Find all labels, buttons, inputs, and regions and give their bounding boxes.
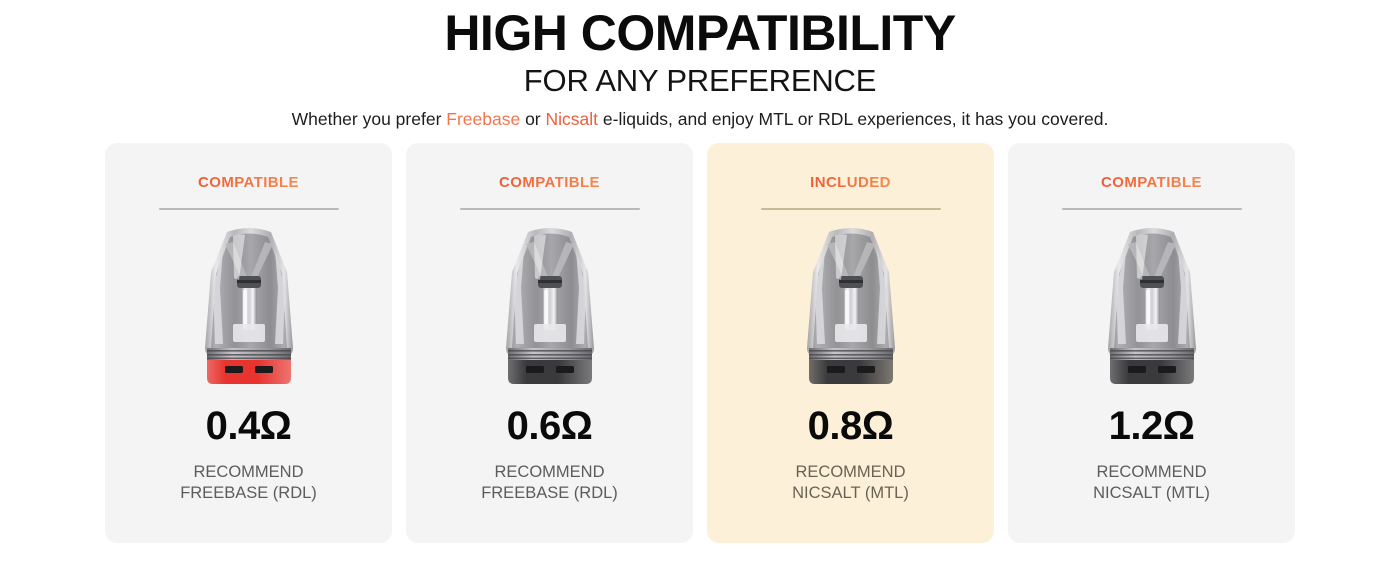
resistance-value: 0.6Ω [507,404,593,449]
pod-image [1096,222,1208,392]
card-divider [460,208,640,210]
pod-card-0.8ohm[interactable]: INCLUDED [707,143,994,543]
pod-card-1.2ohm[interactable]: COMPATIBLE [1008,143,1295,543]
recommendation-line1: RECOMMEND [481,462,618,483]
recommendation-line2: NICSALT (MTL) [792,483,909,504]
pod-illustration [1096,224,1208,390]
recommendation-line2: NICSALT (MTL) [1093,483,1210,504]
card-divider [1062,208,1242,210]
pod-image [494,222,606,392]
pod-illustration [795,224,907,390]
pod-card-0.6ohm[interactable]: COMPATIBLE [406,143,693,543]
recommendation-line1: RECOMMEND [1093,462,1210,483]
pod-image [193,222,305,392]
compatibility-section: HIGH COMPATIBILITY FOR ANY PREFERENCE Wh… [0,0,1400,563]
recommendation-line2: FREEBASE (RDL) [481,483,618,504]
recommendation: RECOMMENDFREEBASE (RDL) [180,462,317,505]
resistance-value: 0.8Ω [808,404,894,449]
recommendation: RECOMMENDNICSALT (MTL) [792,462,909,505]
card-divider [761,208,941,210]
tagline-nicsalt: Nicsalt [546,109,599,129]
pod-image [795,222,907,392]
pod-cards-row: COMPATIBLE [105,143,1301,543]
tagline: Whether you prefer Freebase or Nicsalt e… [0,108,1400,131]
recommendation-line1: RECOMMEND [792,462,909,483]
tagline-part3: e-liquids, and enjoy MTL or RDL experien… [598,109,1108,129]
tagline-freebase: Freebase [446,109,520,129]
recommendation-line1: RECOMMEND [180,462,317,483]
page-subtitle: FOR ANY PREFERENCE [0,62,1400,99]
resistance-value: 1.2Ω [1109,404,1195,449]
recommendation: RECOMMENDFREEBASE (RDL) [481,462,618,505]
card-badge: COMPATIBLE [1101,174,1202,191]
tagline-part2: or [520,109,545,129]
card-badge: INCLUDED [810,174,891,191]
pod-card-0.4ohm[interactable]: COMPATIBLE [105,143,392,543]
card-divider [159,208,339,210]
pod-illustration [193,224,305,390]
page-title: HIGH COMPATIBILITY [0,6,1400,60]
tagline-part1: Whether you prefer [292,109,447,129]
header: HIGH COMPATIBILITY FOR ANY PREFERENCE Wh… [0,0,1400,131]
recommendation: RECOMMENDNICSALT (MTL) [1093,462,1210,505]
resistance-value: 0.4Ω [206,404,292,449]
card-badge: COMPATIBLE [198,174,299,191]
pod-illustration [494,224,606,390]
card-badge: COMPATIBLE [499,174,600,191]
recommendation-line2: FREEBASE (RDL) [180,483,317,504]
